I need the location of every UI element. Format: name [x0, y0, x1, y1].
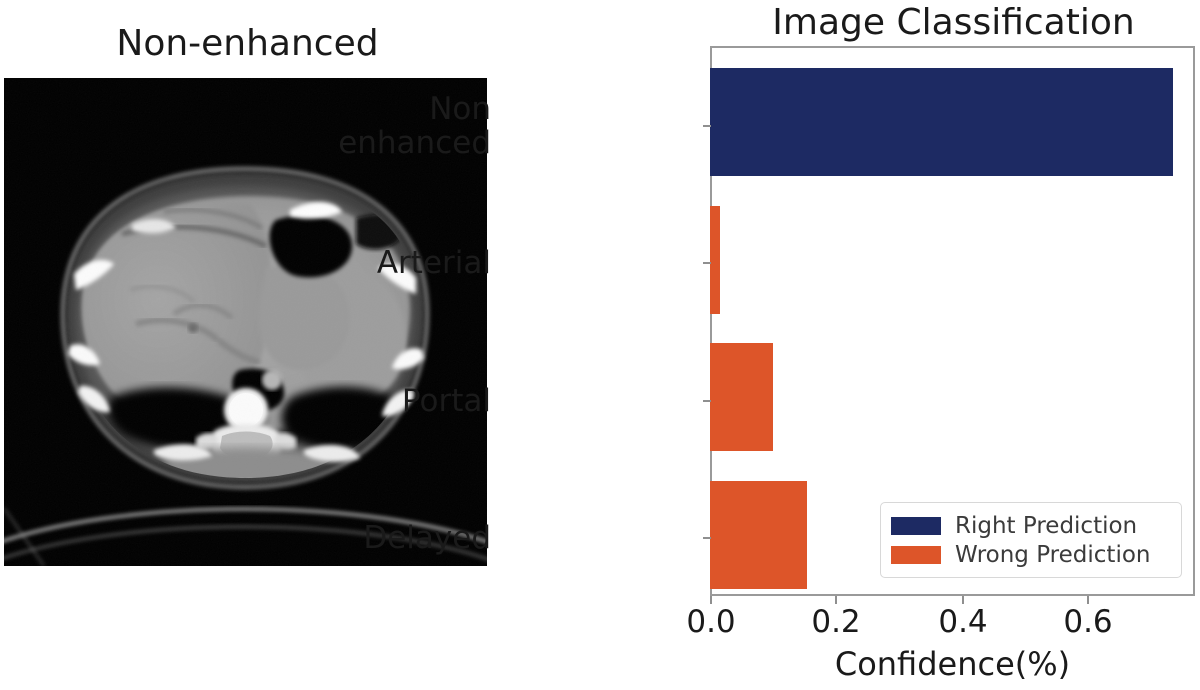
xtick-mark-1: [835, 596, 837, 604]
xtick-label-0: 0.0: [686, 604, 735, 640]
xtick-label-3: 0.6: [1063, 604, 1112, 640]
bar-delayed: [710, 481, 807, 589]
legend-entry-right-prediction: Right Prediction: [891, 511, 1171, 540]
ytick-label-delayed: Delayed: [363, 521, 491, 555]
xtick-mark-0: [710, 596, 712, 604]
legend-swatch-right-prediction: [891, 517, 941, 535]
ytick-label-portal: Portal: [402, 384, 491, 418]
bar-arterial: [710, 206, 720, 314]
xtick-label-2: 0.4: [938, 604, 987, 640]
bar-chart-panel: Image Classification Non enhanced Arteri…: [495, 0, 1200, 690]
ytick-mark-arterial: [703, 262, 711, 264]
chart-legend: Right Prediction Wrong Prediction: [880, 502, 1182, 578]
xaxis-label: Confidence(%): [710, 645, 1195, 683]
xtick-label-1: 0.2: [811, 604, 860, 640]
legend-entry-wrong-prediction: Wrong Prediction: [891, 540, 1171, 569]
ytick-label-non-enhanced: Non enhanced: [338, 92, 491, 160]
figure-root: Non-enhanced: [0, 0, 1200, 690]
ytick-mark-non-enhanced: [703, 125, 711, 127]
legend-label-right-prediction: Right Prediction: [955, 513, 1137, 539]
xtick-mark-2: [962, 596, 964, 604]
ct-image-title: Non-enhanced: [0, 23, 495, 64]
chart-title: Image Classification: [711, 2, 1196, 43]
legend-swatch-wrong-prediction: [891, 546, 941, 564]
ytick-label-arterial: Arterial: [377, 246, 491, 280]
bar-portal: [710, 343, 773, 451]
xtick-mark-3: [1087, 596, 1089, 604]
bar-non-enhanced: [710, 68, 1173, 176]
ytick-mark-delayed: [703, 537, 711, 539]
ytick-mark-portal: [703, 400, 711, 402]
legend-label-wrong-prediction: Wrong Prediction: [955, 542, 1150, 568]
